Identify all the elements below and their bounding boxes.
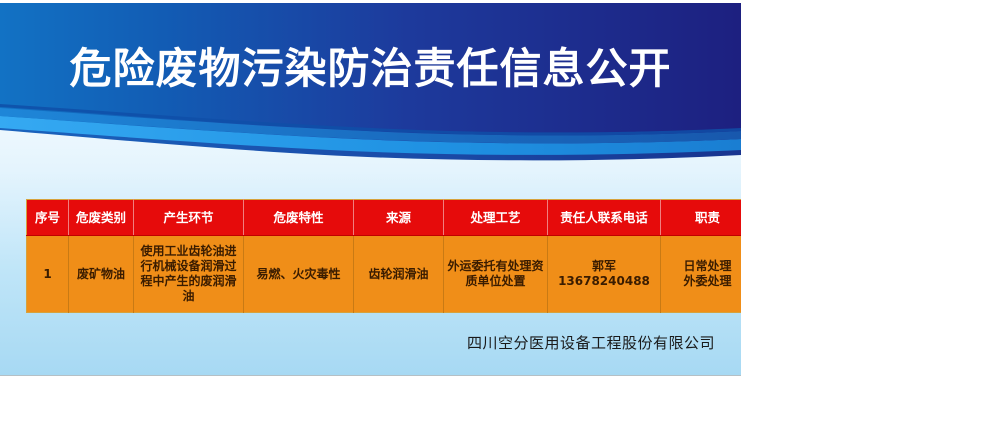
column-header-source: 来源 — [354, 200, 444, 236]
cell-duty: 日常处理 外委处理 — [661, 236, 742, 313]
banner-header: 危险废物污染防治责任信息公开 — [0, 3, 741, 163]
duty-line-2: 外委处理 — [664, 274, 741, 289]
contact-person-phone: 13678240488 — [551, 274, 657, 289]
table-row: 1 废矿物油 使用工业齿轮油进行机械设备润滑过程中产生的废润滑油 易燃、火灾毒性… — [27, 236, 742, 313]
cell-process: 外运委托有处理资质单位处置 — [444, 236, 548, 313]
column-header-duty: 职责 — [661, 200, 742, 236]
cell-stage: 使用工业齿轮油进行机械设备润滑过程中产生的废润滑油 — [134, 236, 244, 313]
cell-contact: 郭军 13678240488 — [548, 236, 661, 313]
contact-person-name: 郭军 — [551, 259, 657, 274]
column-header-process: 处理工艺 — [444, 200, 548, 236]
table-header-row: 序号 危废类别 产生环节 危废特性 来源 处理工艺 责任人联系电话 职责 — [27, 200, 742, 236]
cell-characteristic: 易燃、火灾毒性 — [244, 236, 354, 313]
column-header-stage: 产生环节 — [134, 200, 244, 236]
column-header-category: 危废类别 — [69, 200, 134, 236]
hazardous-waste-table: 序号 危废类别 产生环节 危废特性 来源 处理工艺 责任人联系电话 职责 1 废… — [26, 199, 741, 313]
page-title: 危险废物污染防治责任信息公开 — [0, 43, 741, 95]
column-header-index: 序号 — [27, 200, 69, 236]
column-header-characteristic: 危废特性 — [244, 200, 354, 236]
company-name: 四川空分医用设备工程股份有限公司 — [0, 333, 715, 353]
duty-line-1: 日常处理 — [664, 259, 741, 274]
cell-category: 废矿物油 — [69, 236, 134, 313]
cell-source: 齿轮润滑油 — [354, 236, 444, 313]
hazardous-waste-table-wrapper: 序号 危废类别 产生环节 危废特性 来源 处理工艺 责任人联系电话 职责 1 废… — [26, 199, 714, 313]
column-header-contact: 责任人联系电话 — [548, 200, 661, 236]
information-disclosure-poster: 危险废物污染防治责任信息公开 序号 危废类别 产生环节 危废特性 来源 处理工艺… — [0, 3, 741, 375]
cell-index: 1 — [27, 236, 69, 313]
